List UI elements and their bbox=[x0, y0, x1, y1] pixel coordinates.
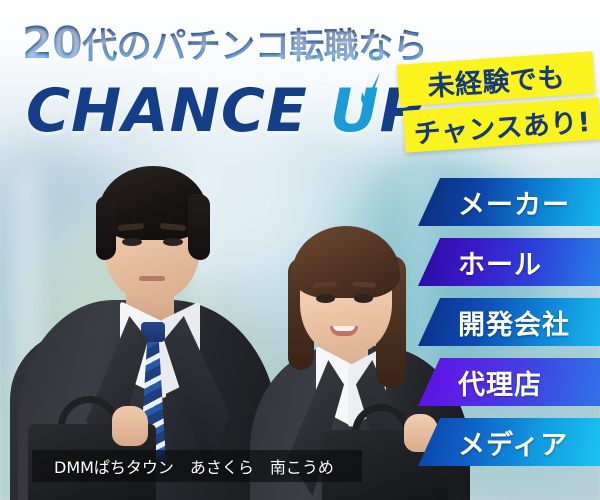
category-label: メーカー bbox=[458, 183, 570, 222]
category-label: ホール bbox=[458, 243, 542, 282]
man-mouth bbox=[139, 276, 165, 281]
logo-letter-u: U bbox=[330, 76, 380, 146]
category-label: 開発会社 bbox=[458, 303, 570, 342]
badge-ribbon-1-label: 未経験でも bbox=[426, 55, 566, 103]
brand-logo: CHANCE UP bbox=[26, 76, 425, 146]
man-eye-left bbox=[122, 238, 142, 246]
man-hair-side-left bbox=[96, 196, 116, 260]
headline-number: 20 bbox=[22, 18, 82, 69]
category-item-developer[interactable]: 開発会社 bbox=[418, 298, 600, 346]
category-label: 代理店 bbox=[458, 363, 542, 402]
woman-eye-left bbox=[316, 294, 335, 303]
man-hair-side-right bbox=[188, 194, 210, 260]
promo-banner[interactable]: 20代のパチンコ転職なら CHANCE UP 未経験でも チャンスあり! メーカ… bbox=[0, 0, 600, 500]
category-item-media[interactable]: メディア bbox=[418, 418, 600, 466]
woman-teeth bbox=[333, 326, 355, 331]
caption-bar: DMMぱちタウン あさくら 南こうめ bbox=[32, 450, 362, 482]
caption-text: DMMぱちタウン あさくら 南こうめ bbox=[32, 454, 334, 478]
category-item-maker[interactable]: メーカー bbox=[418, 178, 600, 226]
category-item-hall[interactable]: ホール bbox=[418, 238, 600, 286]
category-label: メディア bbox=[458, 423, 568, 462]
category-list: メーカー ホール 開発会社 代理店 メディア bbox=[418, 178, 600, 478]
headline-rest: 代のパチンコ転職なら bbox=[82, 27, 427, 67]
category-item-agency[interactable]: 代理店 bbox=[418, 358, 600, 406]
man-hand bbox=[112, 406, 148, 446]
logo-u-wrap: U bbox=[330, 76, 380, 146]
page-title: 20代のパチンコ転職なら bbox=[22, 18, 427, 69]
logo-word-chance: CHANCE bbox=[26, 76, 308, 146]
woman-eye-right bbox=[354, 294, 373, 303]
man-eye-right bbox=[163, 238, 183, 246]
